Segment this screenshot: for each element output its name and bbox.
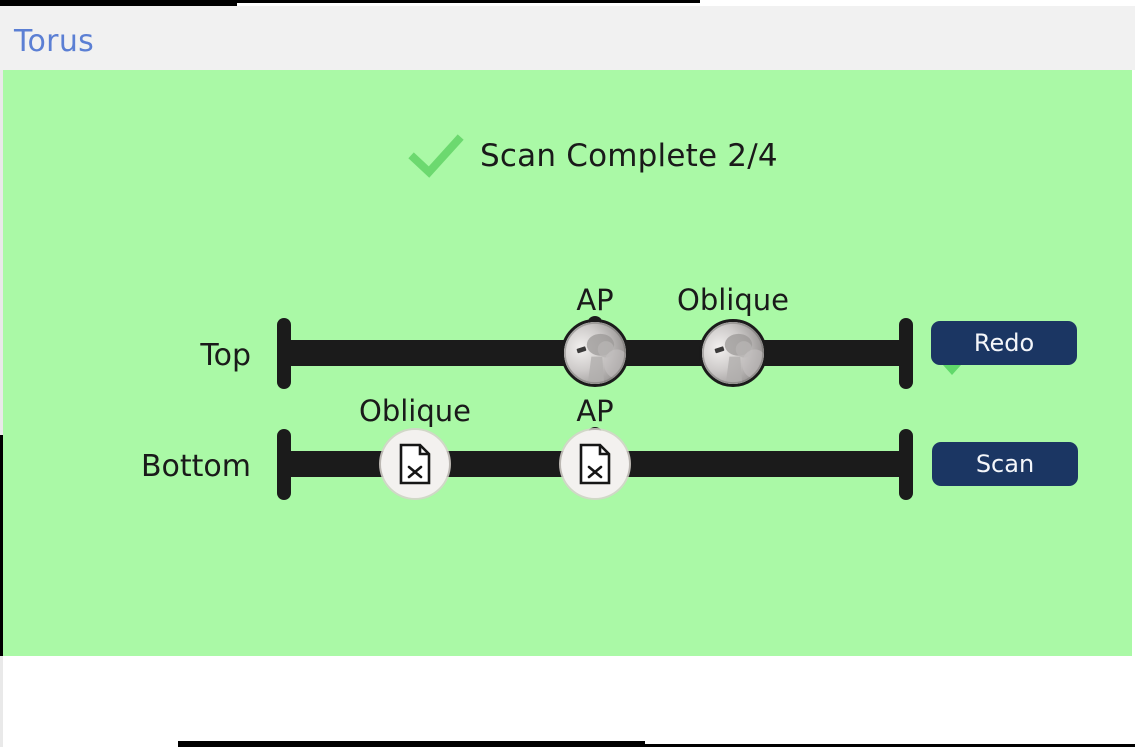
track-label-bottom: Bottom — [141, 449, 251, 484]
scan-status-text: Scan Complete 2/4 — [480, 138, 778, 174]
scan-status: Scan Complete 2/4 — [408, 128, 778, 184]
marker-label: AP — [576, 394, 613, 428]
track-cap-start-top — [277, 318, 291, 389]
document-missing-icon — [561, 430, 629, 498]
track-cap-end-bottom — [899, 429, 913, 500]
window-chrome-bottom — [178, 741, 645, 747]
track-cap-end-top — [899, 318, 913, 389]
scan-stage: Scan Complete 2/4 Top AP — [3, 70, 1132, 656]
app-header: Torus — [0, 6, 1135, 70]
xray-thumbnail-icon — [699, 319, 767, 387]
marker-top-oblique[interactable]: Oblique — [699, 319, 767, 387]
scan-button[interactable]: Scan — [932, 442, 1078, 486]
app-window: Torus Scan Complete 2/4 Top AP — [0, 0, 1135, 747]
window-chrome-top-mid — [237, 0, 700, 3]
track-label-top: Top — [200, 338, 251, 373]
track-cap-start-bottom — [277, 429, 291, 500]
redo-pointer-icon — [943, 365, 961, 375]
app-title: Torus — [14, 24, 94, 60]
marker-bottom-ap[interactable]: AP — [561, 430, 629, 498]
marker-label: AP — [576, 283, 613, 317]
check-icon — [408, 128, 464, 184]
marker-top-ap[interactable]: AP — [561, 319, 629, 387]
document-missing-icon — [381, 430, 449, 498]
xray-thumbnail-icon — [561, 319, 629, 387]
marker-label: Oblique — [677, 283, 789, 317]
track-body-bottom[interactable]: Oblique AP — [277, 403, 913, 523]
marker-label: Oblique — [359, 394, 471, 428]
redo-button[interactable]: Redo — [931, 321, 1077, 365]
marker-bottom-oblique[interactable]: Oblique — [381, 430, 449, 498]
